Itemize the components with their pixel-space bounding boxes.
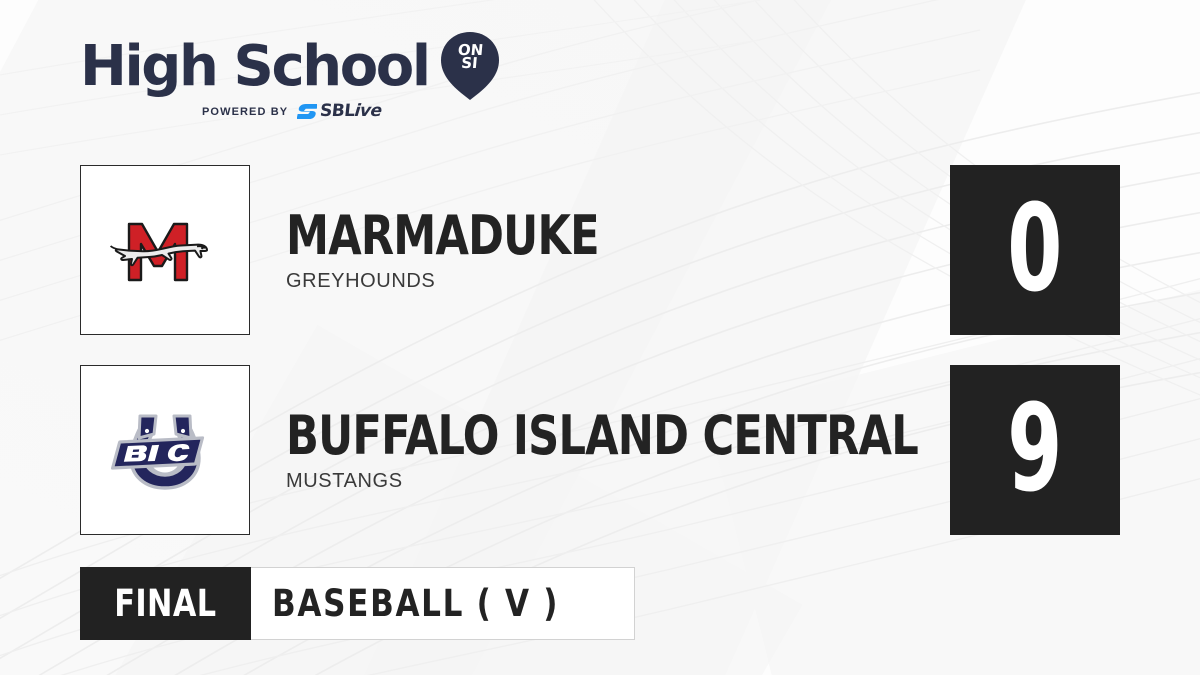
- brand-wordmark: High School: [80, 39, 429, 95]
- sblive-s-icon: [297, 103, 317, 120]
- buffalo-island-central-mustangs-logo-icon: [109, 394, 221, 506]
- team-score-box: 0: [950, 165, 1120, 335]
- status-badge-label: FINAL: [114, 585, 216, 622]
- team-name: MARMADUKE: [286, 208, 953, 264]
- sport-badge-label: BASEBALL ( V ): [272, 585, 559, 622]
- team-score: 9: [1007, 390, 1062, 510]
- team-row: BUFFALO ISLAND CENTRAL MUSTANGS 9: [80, 365, 1120, 535]
- sblive-word-b: ive: [354, 101, 383, 121]
- status-badge: FINAL: [80, 567, 251, 640]
- sblive-wordmark: SBLive: [319, 103, 382, 120]
- scoreboard-graphic: High School ON SI POWERED BY SBLive: [0, 0, 1200, 675]
- team-logo-box: [80, 165, 250, 335]
- team-row: MARMADUKE GREYHOUNDS 0: [80, 165, 1120, 335]
- powered-by-row: POWERED BY SBLive: [202, 103, 510, 120]
- sblive-word-a: SBL: [319, 101, 356, 121]
- sport-badge: BASEBALL ( V ): [251, 567, 635, 640]
- team-name: BUFFALO ISLAND CENTRAL: [286, 408, 953, 464]
- game-status-bar: FINAL BASEBALL ( V ): [80, 567, 635, 640]
- map-pin-icon: ON SI: [439, 30, 501, 102]
- brand-logo-row: High School ON SI: [80, 36, 510, 98]
- team-logo-box: [80, 365, 250, 535]
- pin-label: ON SI: [438, 44, 502, 70]
- sblive-logo: SBLive: [297, 103, 382, 120]
- brand-header: High School ON SI POWERED BY SBLive: [80, 36, 510, 136]
- marmaduke-greyhounds-logo-icon: [109, 194, 221, 306]
- team-score-box: 9: [950, 365, 1120, 535]
- pin-label-line2: SI: [438, 57, 501, 70]
- team-score: 0: [1007, 190, 1062, 310]
- powered-by-label: POWERED BY: [202, 106, 288, 118]
